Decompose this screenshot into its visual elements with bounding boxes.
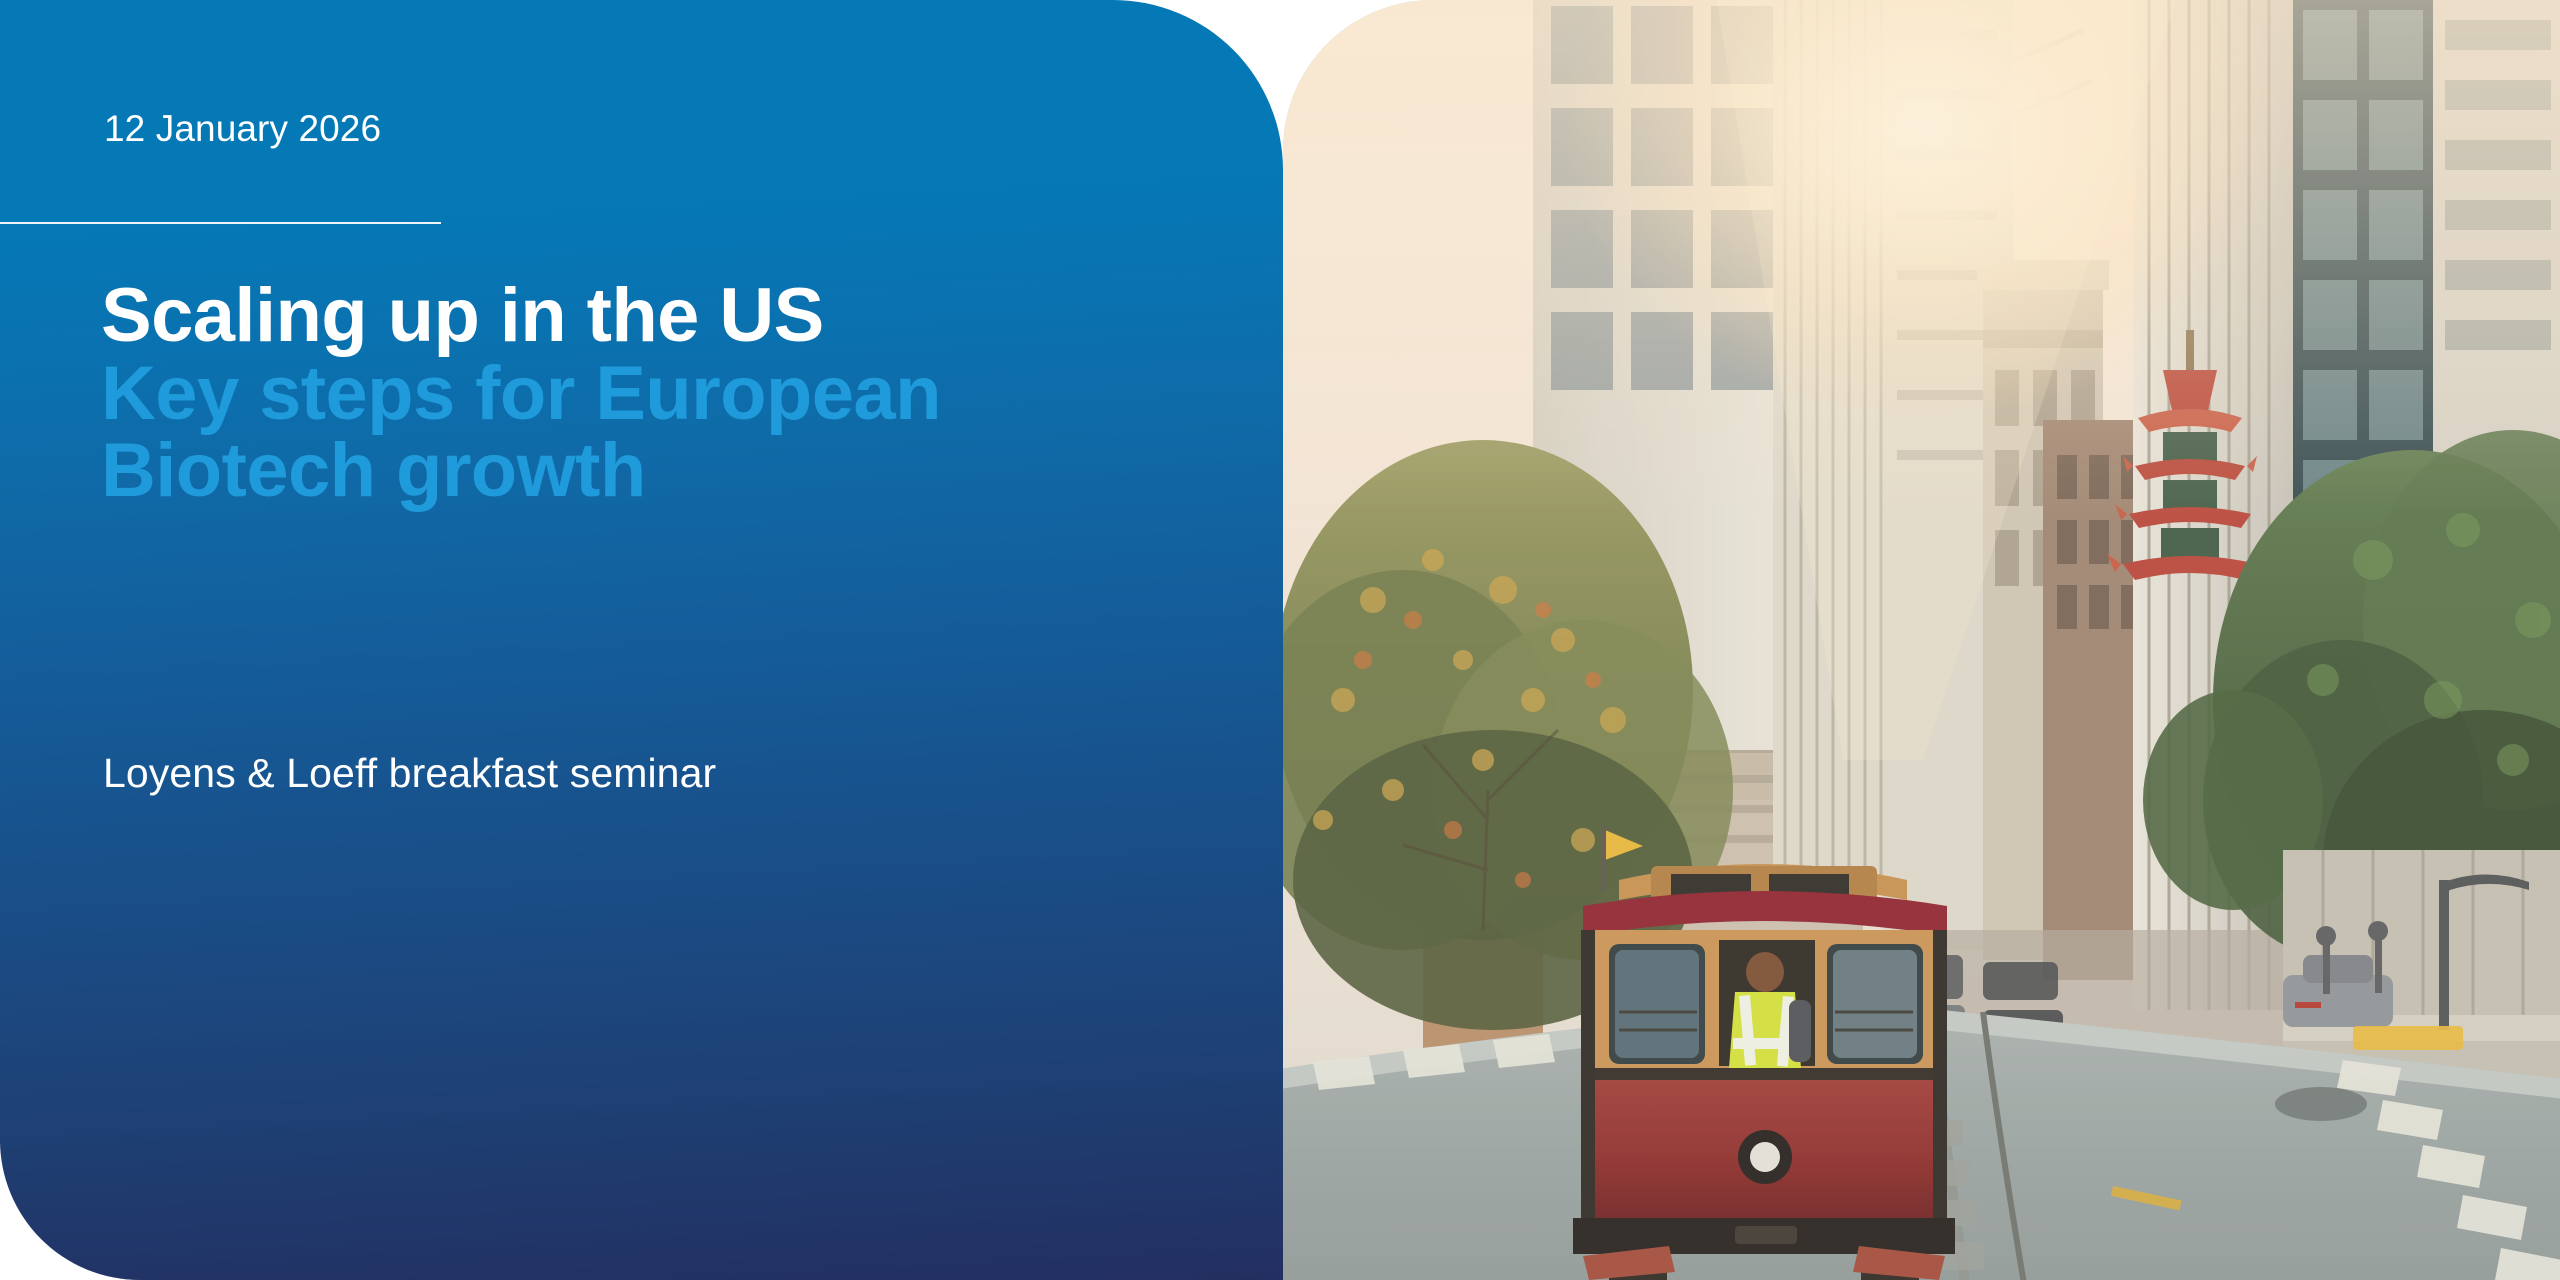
slide-date: 12 January 2026 (104, 108, 381, 150)
slide-subtitle: Loyens & Loeff breakfast seminar (103, 750, 716, 797)
title-panel: 12 January 2026 Scaling up in the US Key… (0, 0, 1283, 1280)
slide-title: Scaling up in the US Key steps for Europ… (101, 277, 1221, 510)
title-line-3: Biotech growth (101, 432, 1221, 510)
divider-rule (0, 222, 441, 224)
san-francisco-street-photo (1283, 0, 2560, 1280)
title-line-1: Scaling up in the US (101, 277, 1221, 355)
hero-photo (1283, 0, 2560, 1280)
presentation-slide: 12 January 2026 Scaling up in the US Key… (0, 0, 2560, 1280)
title-line-2: Key steps for European (101, 355, 1221, 433)
